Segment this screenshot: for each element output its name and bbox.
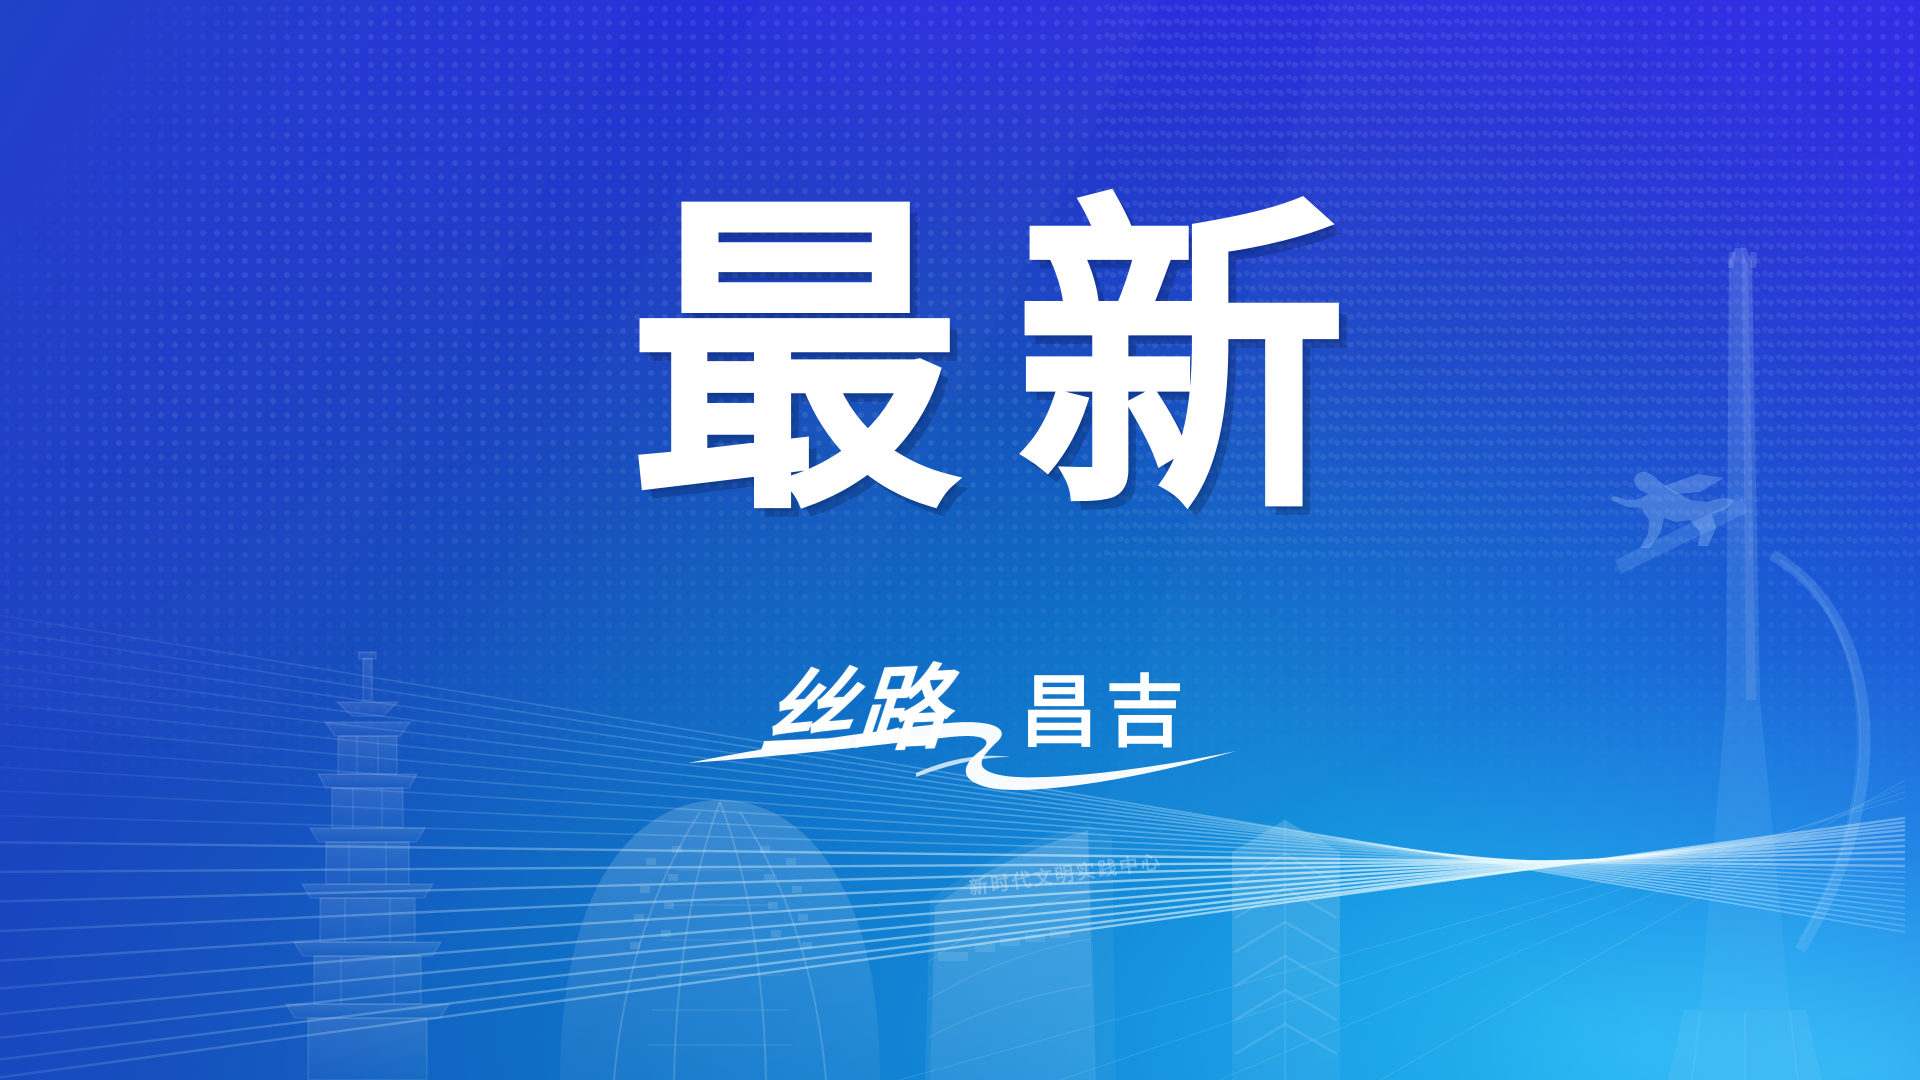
brand-calligraphy-text: 丝路: [757, 646, 1018, 777]
brand-logo: 丝路 昌吉: [680, 645, 1240, 825]
banner-canvas: 新时代文明实践中心 最新 丝路 昌吉: [0, 0, 1920, 1080]
page-title: 最新: [0, 196, 1920, 526]
brand-block-text: 昌吉: [1020, 667, 1192, 759]
